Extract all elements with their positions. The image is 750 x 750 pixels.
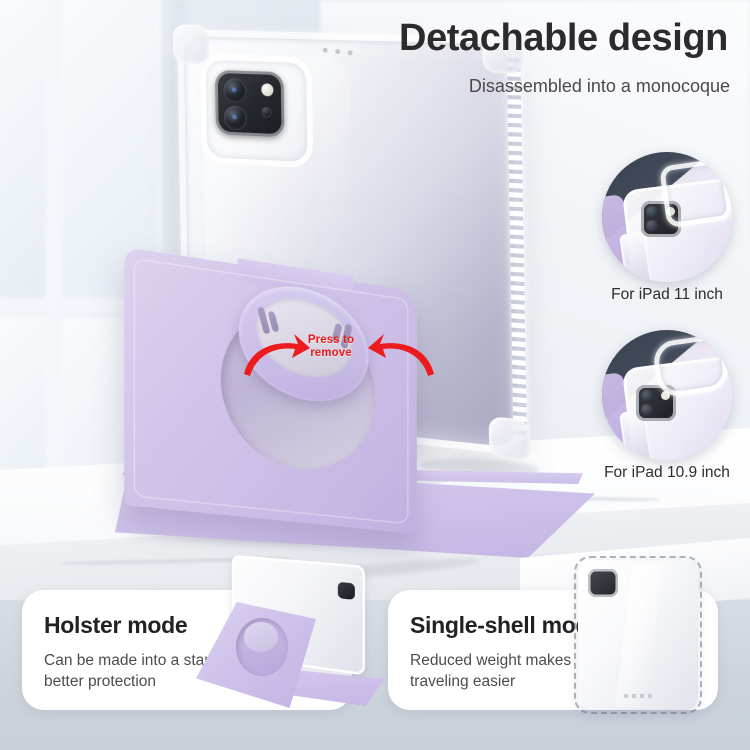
red-arrow-right [368, 330, 438, 378]
camera-module [215, 70, 285, 137]
press-to-remove-label: Press to remove [291, 334, 371, 360]
lens-highlight [232, 87, 237, 92]
single-shell-camera-module [588, 569, 618, 597]
microphone-dot [323, 48, 328, 53]
single-shell-body [578, 560, 698, 710]
holster-rotating-hub [236, 618, 288, 676]
camera-lens [223, 78, 246, 103]
variant-thumb-ipad-109[interactable]: For iPad 10.9 inch [602, 330, 732, 460]
microphone-dot [348, 50, 353, 55]
page-subtitle: Disassembled into a monocoque [400, 74, 730, 99]
window-pane [0, 0, 46, 298]
thumb-camera-lens [641, 404, 653, 416]
variant-thumb-image [602, 330, 732, 460]
thumb-camera-lens [646, 206, 658, 218]
variant-caption: For iPad 10.9 inch [568, 464, 750, 482]
microphone-dot [335, 49, 340, 54]
product-infographic: Press to remove Detachable design Disass… [0, 0, 750, 750]
thumb-camera-lens [641, 390, 653, 402]
page-title: Detachable design [380, 16, 728, 60]
single-shell-speaker-port [624, 694, 652, 698]
camera-flash [261, 83, 273, 96]
single-shell-image [560, 560, 720, 720]
holster-mode-image [196, 556, 376, 706]
feature-title: Holster mode [44, 612, 187, 639]
corner-bumper [173, 24, 210, 64]
variant-caption: For iPad 11 inch [568, 286, 750, 304]
holster-hub-face [244, 622, 278, 652]
hero-purple-folio [95, 270, 615, 555]
variant-thumb-ipad-11[interactable]: For iPad 11 inch [602, 152, 732, 282]
window-mullion [48, 0, 60, 535]
lidar-sensor [262, 107, 272, 118]
camera-lens [224, 105, 247, 130]
thumb-camera-lens [646, 220, 658, 232]
folio-back-panel [124, 247, 417, 534]
variant-thumb-image [602, 152, 732, 282]
thumb-camera-cutout [659, 158, 732, 229]
lens-highlight [232, 114, 237, 119]
holster-camera-module [338, 582, 355, 600]
